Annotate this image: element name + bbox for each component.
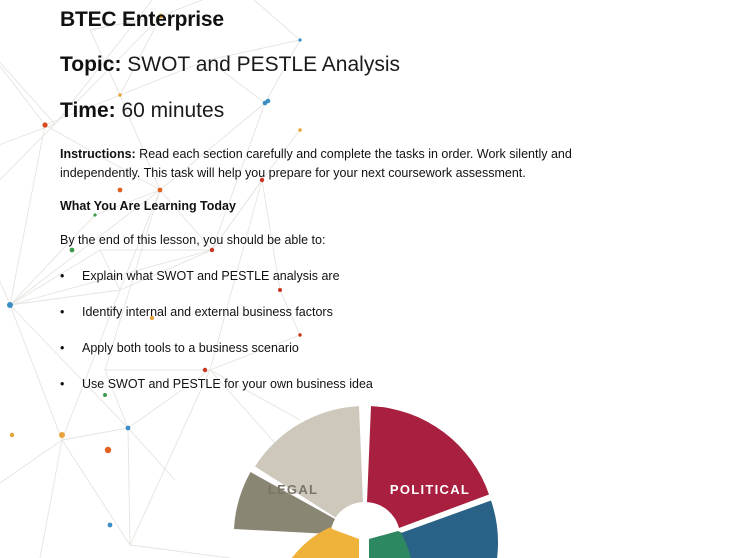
social-segment-lower	[270, 529, 359, 558]
list-item: • Identify internal and external busines…	[60, 305, 670, 319]
legal-segment-label: LEGAL	[268, 482, 319, 497]
time-label: Time:	[60, 99, 116, 122]
list-item: • Apply both tools to a business scenari…	[60, 341, 670, 355]
bullet-icon: •	[60, 377, 64, 391]
instructions-text: Read each section carefully and complete…	[60, 147, 572, 180]
list-item: • Use SWOT and PESTLE for your own busin…	[60, 377, 670, 391]
time-line: Time: 60 minutes	[60, 99, 670, 123]
instructions-paragraph: Instructions: Read each section carefull…	[60, 145, 620, 183]
list-item-label: Use SWOT and PESTLE for your own busines…	[82, 377, 373, 391]
list-item-label: Identify internal and external business …	[82, 305, 333, 319]
list-item-label: Explain what SWOT and PESTLE analysis ar…	[82, 269, 340, 283]
topic-value: SWOT and PESTLE Analysis	[121, 53, 400, 76]
page-title: BTEC Enterprise	[60, 8, 670, 31]
lesson-worksheet-page: BTEC Enterprise Topic: SWOT and PESTLE A…	[0, 0, 743, 558]
objectives-heading: What You Are Learning Today	[60, 199, 670, 213]
political-segment-label: POLITICAL	[390, 482, 470, 497]
objectives-lead: By the end of this lesson, you should be…	[60, 233, 670, 247]
pestle-wheel-diagram: LEGAL POLITICAL	[150, 398, 590, 558]
worksheet-content: BTEC Enterprise Topic: SWOT and PESTLE A…	[60, 8, 670, 413]
instructions-label: Instructions:	[60, 147, 136, 161]
topic-line: Topic: SWOT and PESTLE Analysis	[60, 53, 670, 77]
bullet-icon: •	[60, 269, 64, 283]
bullet-icon: •	[60, 305, 64, 319]
list-item: • Explain what SWOT and PESTLE analysis …	[60, 269, 670, 283]
list-item-label: Apply both tools to a business scenario	[82, 341, 299, 355]
topic-label: Topic:	[60, 53, 121, 76]
time-value: 60 minutes	[116, 99, 225, 122]
bullet-icon: •	[60, 341, 64, 355]
